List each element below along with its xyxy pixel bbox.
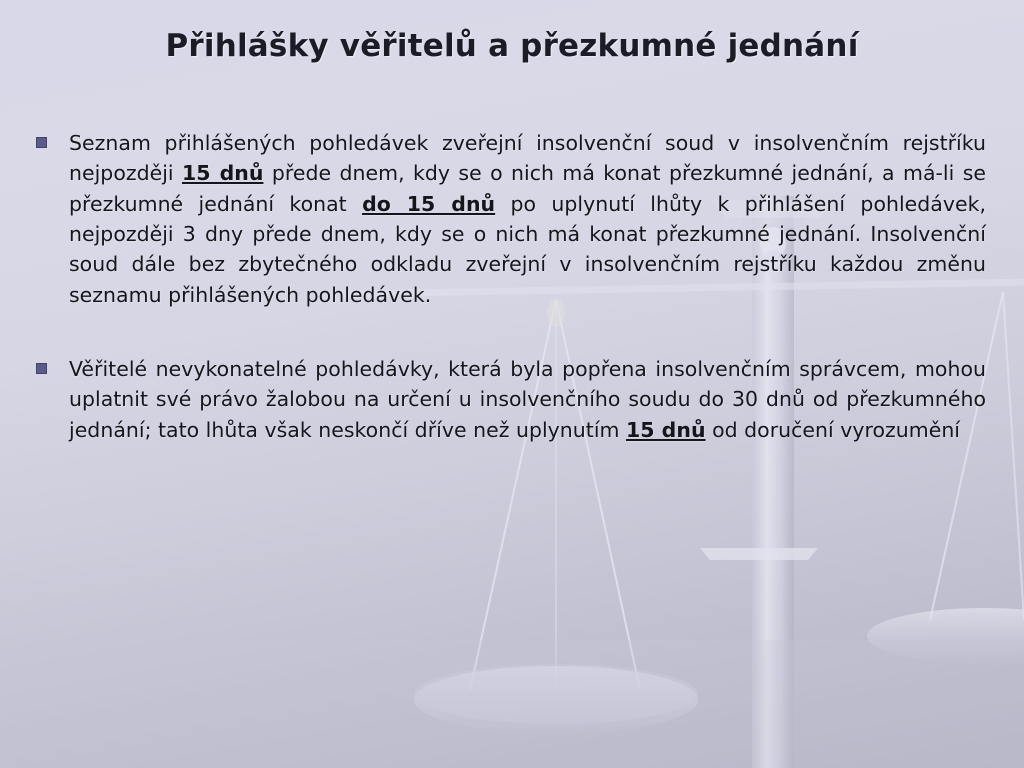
bullet-paragraph-1: Seznam přihlášených pohledávek zveřejní … bbox=[69, 128, 986, 310]
text-segment: od doručení vyrozumění bbox=[706, 418, 960, 442]
square-bullet-icon bbox=[36, 363, 47, 374]
bullet-paragraph-2: Věřitelé nevykonatelné pohledávky, která… bbox=[69, 354, 986, 445]
content-body: Seznam přihlášených pohledávek zveřejní … bbox=[36, 128, 986, 485]
list-item: Seznam přihlášených pohledávek zveřejní … bbox=[36, 128, 986, 310]
text-segment-bold: 15 dnů bbox=[626, 418, 706, 442]
text-segment-bold: do 15 dnů bbox=[362, 192, 495, 216]
text-segment-bold: 15 dnů bbox=[182, 161, 263, 185]
page-title: Přihlášky věřitelů a přezkumné jednání bbox=[0, 28, 1024, 64]
list-item: Věřitelé nevykonatelné pohledávky, která… bbox=[36, 354, 986, 445]
square-bullet-icon bbox=[36, 137, 47, 148]
slide-canvas: Přihlášky věřitelů a přezkumné jednání S… bbox=[0, 0, 1024, 768]
